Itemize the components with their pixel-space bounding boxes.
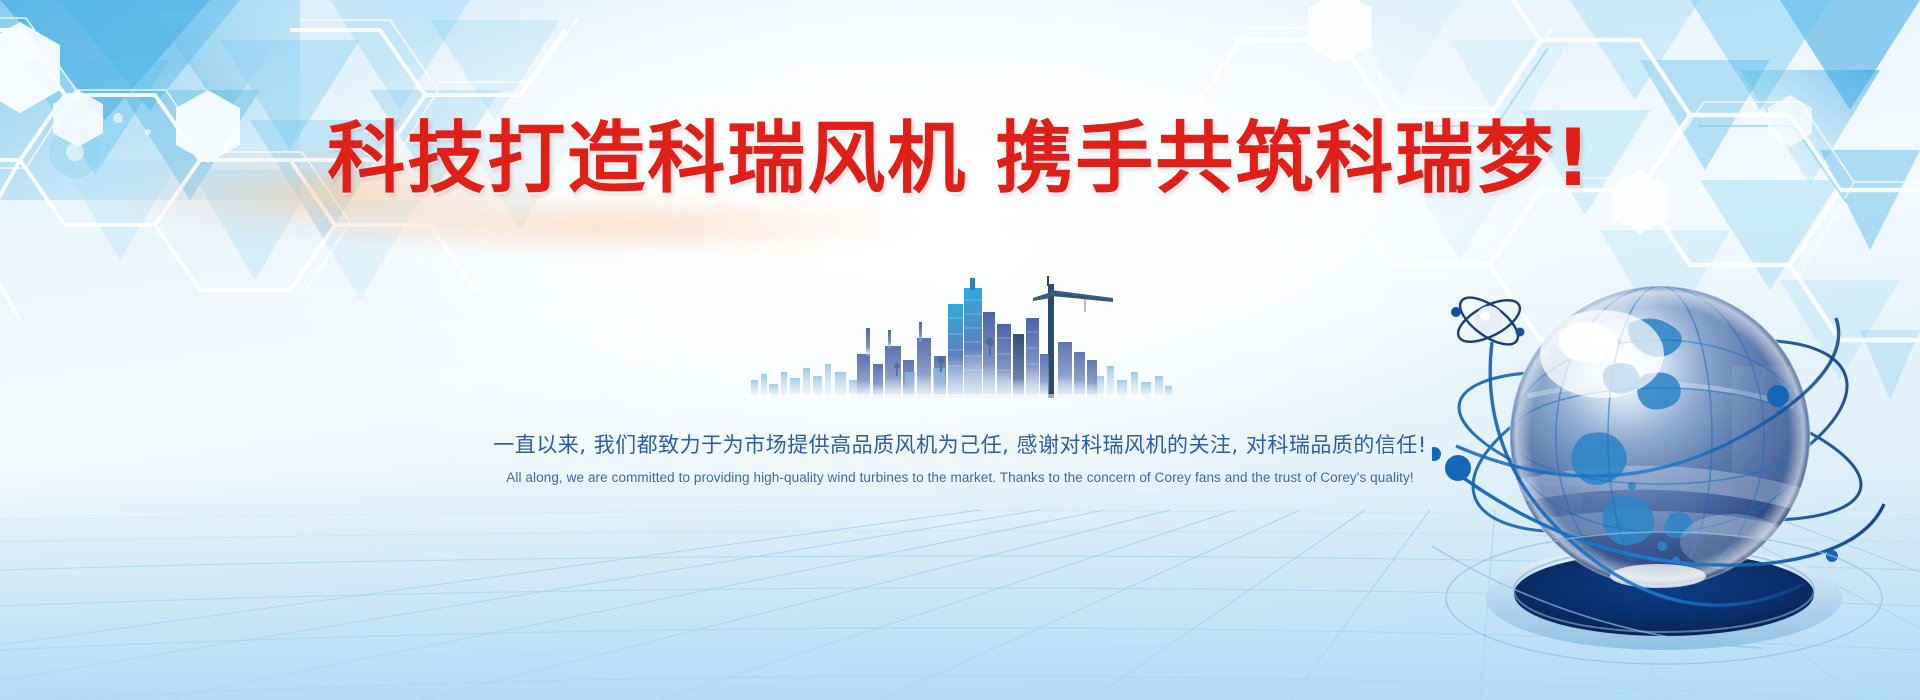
headline-part-2: 携手共筑科瑞梦! <box>995 114 1593 204</box>
atom-icon <box>1451 289 1526 353</box>
globe-orbit-illustration <box>1432 246 1902 676</box>
city-skyline-illustration <box>745 268 1175 398</box>
headline-part-1: 科技打造科瑞风机 <box>327 114 967 204</box>
warm-lens-flare-streak <box>300 195 920 255</box>
banner-headline: 科技打造科瑞风机携手共筑科瑞梦! <box>0 120 1920 198</box>
promo-banner: 科技打造科瑞风机携手共筑科瑞梦! <box>0 0 1920 700</box>
